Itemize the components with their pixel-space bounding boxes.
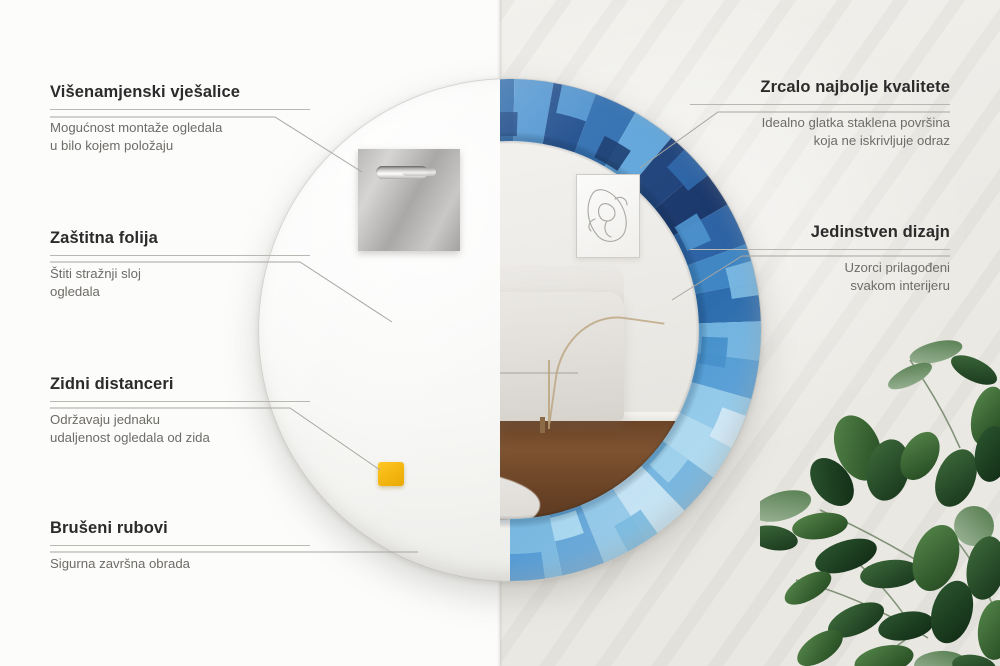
- product-mirror: [258, 78, 762, 582]
- feature-desc-line: ogledala: [50, 284, 100, 299]
- foliage-branch-icon: [760, 330, 1000, 666]
- wall-hanger-plate-icon: [358, 149, 460, 251]
- feature-title: Jedinstven dizajn: [690, 222, 950, 242]
- feature-rule: [50, 401, 310, 402]
- feature-description: Mogućnost montaže ogledala u bilo kojem …: [50, 119, 310, 154]
- feature-desc-line: Idealno glatka staklena površina: [762, 115, 950, 130]
- feature-desc-line: Štiti stražnji sloj: [50, 266, 141, 281]
- feature-desc-line: udaljenost ogledala od zida: [50, 430, 210, 445]
- feature-title: Brušeni rubovi: [50, 518, 310, 538]
- feature-block-unique-design: Jedinstven dizajn Uzorci prilagođeni sva…: [690, 222, 950, 294]
- feature-block-wall-spacers: Zidni distanceri Održavaju jednaku udalj…: [50, 374, 310, 446]
- infographic-canvas: Višenamjenski vješalice Mogućnost montaž…: [0, 0, 1000, 666]
- feature-block-top-quality-mirror: Zrcalo najbolje kvalitete Idealno glatka…: [690, 77, 950, 149]
- feature-title: Zidni distanceri: [50, 374, 310, 394]
- feature-desc-line: Održavaju jednaku: [50, 412, 160, 427]
- feature-rule: [690, 249, 950, 250]
- feature-title: Višenamjenski vješalice: [50, 82, 310, 102]
- mirror-disc-rim: [258, 78, 762, 582]
- hanger-keyhole-highlight: [402, 168, 436, 176]
- feature-rule: [50, 545, 310, 546]
- feature-rule: [690, 104, 950, 105]
- feature-block-polished-edges: Brušeni rubovi Sigurna završna obrada: [50, 518, 310, 573]
- feature-block-protective-foil: Zaštitna folija Štiti stražnji sloj ogle…: [50, 228, 310, 300]
- feature-desc-line: Uzorci prilagođeni: [844, 260, 950, 275]
- feature-desc-line: svakom interijeru: [850, 278, 950, 293]
- feature-description: Štiti stražnji sloj ogledala: [50, 265, 310, 300]
- feature-description: Uzorci prilagođeni svakom interijeru: [690, 259, 950, 294]
- feature-description: Idealno glatka staklena površina koja ne…: [690, 114, 950, 149]
- feature-rule: [50, 255, 310, 256]
- wall-spacer-icon: [378, 462, 404, 486]
- feature-desc-line: u bilo kojem položaju: [50, 138, 173, 153]
- feature-description: Održavaju jednaku udaljenost ogledala od…: [50, 411, 310, 446]
- feature-description: Sigurna završna obrada: [50, 555, 310, 573]
- feature-title: Zrcalo najbolje kvalitete: [690, 77, 950, 97]
- feature-title: Zaštitna folija: [50, 228, 310, 248]
- feature-rule: [50, 109, 310, 110]
- feature-block-hangers: Višenamjenski vješalice Mogućnost montaž…: [50, 82, 310, 154]
- feature-desc-line: Mogućnost montaže ogledala: [50, 120, 222, 135]
- feature-desc-line: koja ne iskrivljuje odraz: [814, 133, 950, 148]
